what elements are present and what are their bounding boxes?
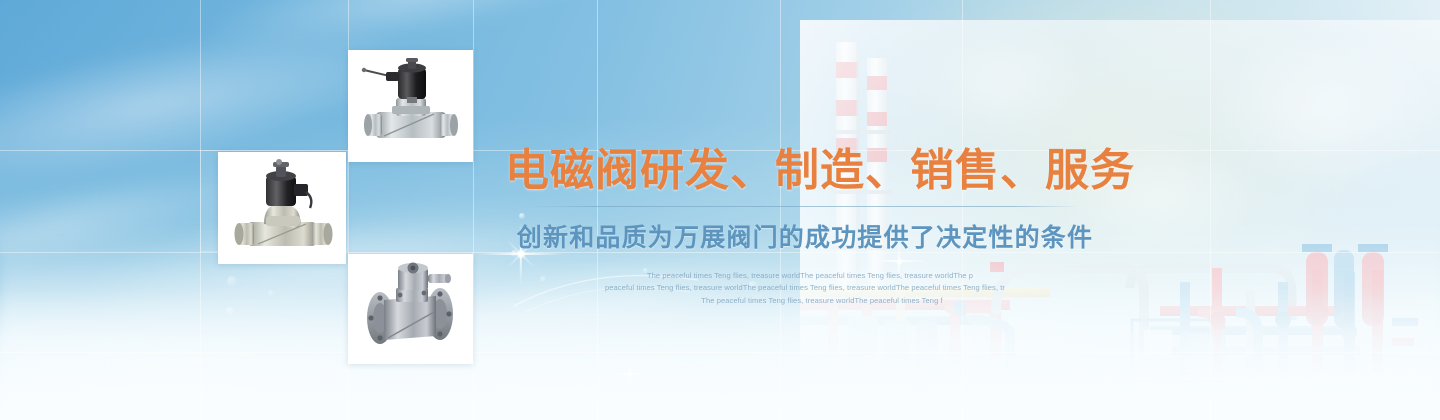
- product-card-threaded-solenoid-valve[interactable]: [348, 50, 473, 162]
- product-card-brass-solenoid-valve[interactable]: [218, 152, 346, 264]
- hero-banner: 电磁阀研发、制造、销售、服务 创新和品质为万展阀门的成功提供了决定性的条件 Th…: [0, 0, 1440, 420]
- product-card-flanged-solenoid-valve[interactable]: [348, 254, 473, 364]
- banner-subheadline: 创新和品质为万展阀门的成功提供了决定性的条件: [505, 218, 1105, 254]
- banner-headline: 电磁阀研发、制造、销售、服务: [505, 146, 1105, 195]
- product-tile-grid: [0, 0, 520, 420]
- headline-divider: [531, 206, 1079, 207]
- banner-copy-block: 电磁阀研发、制造、销售、服务 创新和品质为万展阀门的成功提供了决定性的条件 Th…: [505, 146, 1105, 307]
- blurb-line-1: The peaceful times Teng flies, treasure …: [505, 270, 1105, 282]
- banner-blurb: The peaceful times Teng flies, treasure …: [505, 270, 1105, 306]
- blurb-line-2: peaceful times Teng flies, treasure worl…: [505, 282, 1105, 294]
- blurb-line-3: The peaceful times Teng flies, treasure …: [505, 295, 1105, 307]
